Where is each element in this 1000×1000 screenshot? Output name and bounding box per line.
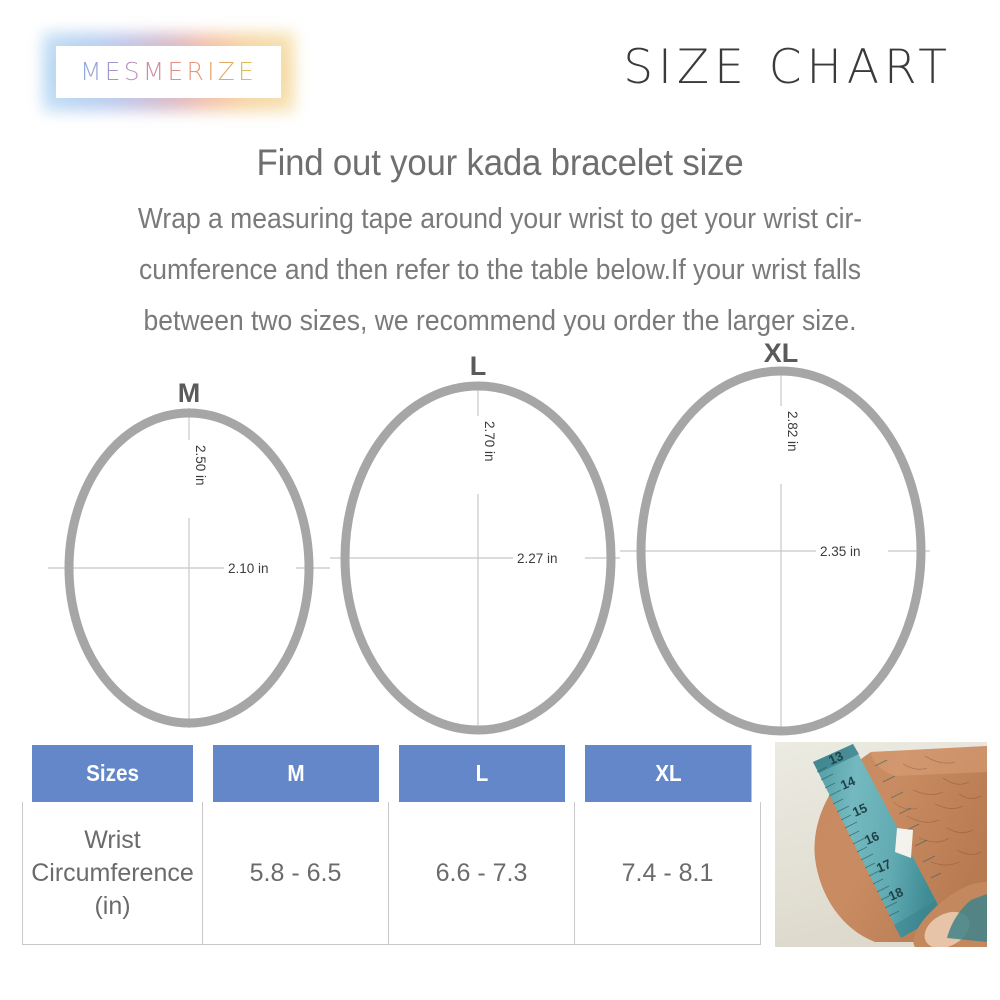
oval-l-height-dimension: 2.70 in [482, 421, 497, 462]
cell-wrist-circumference-xl: 7.4 - 8.1 [575, 802, 761, 945]
oval-m-width-dimension: 2.10 in [228, 561, 269, 576]
row-label-wrist-circumference: Wrist Circumference (in) [23, 802, 203, 945]
row-label-line-1: Wrist [84, 826, 140, 854]
cell-wrist-circumference-m: 5.8 - 6.5 [203, 802, 389, 945]
intro-heading: Find out your kada bracelet size [77, 142, 923, 184]
table-header-xl: XL [584, 745, 751, 802]
intro-body-line-2: cumference and then refer to the table b… [82, 245, 919, 296]
page-header: MESMERIZE SIZE CHART [0, 0, 1000, 130]
intro-body: Wrap a measuring tape around your wrist … [82, 194, 919, 347]
oval-l-label: L [470, 351, 487, 381]
table-header-l: L [398, 745, 565, 802]
oval-group-xl: XL 2.82 in 2.35 in [620, 338, 930, 733]
table-row: Wrist Circumference (in) 5.8 - 6.5 6.6 -… [23, 802, 761, 945]
table-header-sizes: Sizes [32, 745, 194, 802]
oval-m-height-dimension: 2.50 in [193, 445, 208, 486]
oval-group-l: L 2.70 in 2.27 in [330, 351, 620, 732]
oval-xl-label: XL [764, 338, 799, 368]
table-header-m: M [212, 745, 379, 802]
intro-body-line-1: Wrap a measuring tape around your wrist … [82, 194, 919, 245]
bracelet-size-diagram: M 2.50 in 2.10 in L 2.70 in 2.27 in XL 2… [0, 330, 1000, 740]
row-label-line-2: Circumference [31, 859, 194, 887]
brand-logo: MESMERIZE [56, 46, 281, 98]
size-table: Sizes M L XL Wrist Circumference (in) 5.… [22, 745, 761, 945]
intro-block: Find out your kada bracelet size Wrap a … [50, 142, 950, 347]
oval-group-m: M 2.50 in 2.10 in [48, 378, 330, 728]
wrist-measurement-photo: 13 14 15 16 17 18 [775, 742, 987, 947]
oval-xl-width-dimension: 2.35 in [820, 544, 861, 559]
table-header-row: Sizes M L XL [23, 745, 761, 802]
cell-wrist-circumference-l: 6.6 - 7.3 [389, 802, 575, 945]
oval-xl-height-dimension: 2.82 in [785, 411, 800, 452]
oval-l-width-dimension: 2.27 in [517, 551, 558, 566]
row-label-line-3: (in) [94, 892, 130, 920]
oval-m-label: M [178, 378, 201, 408]
brand-logo-text: MESMERIZE [56, 46, 281, 98]
page-title: SIZE CHART [623, 40, 952, 95]
